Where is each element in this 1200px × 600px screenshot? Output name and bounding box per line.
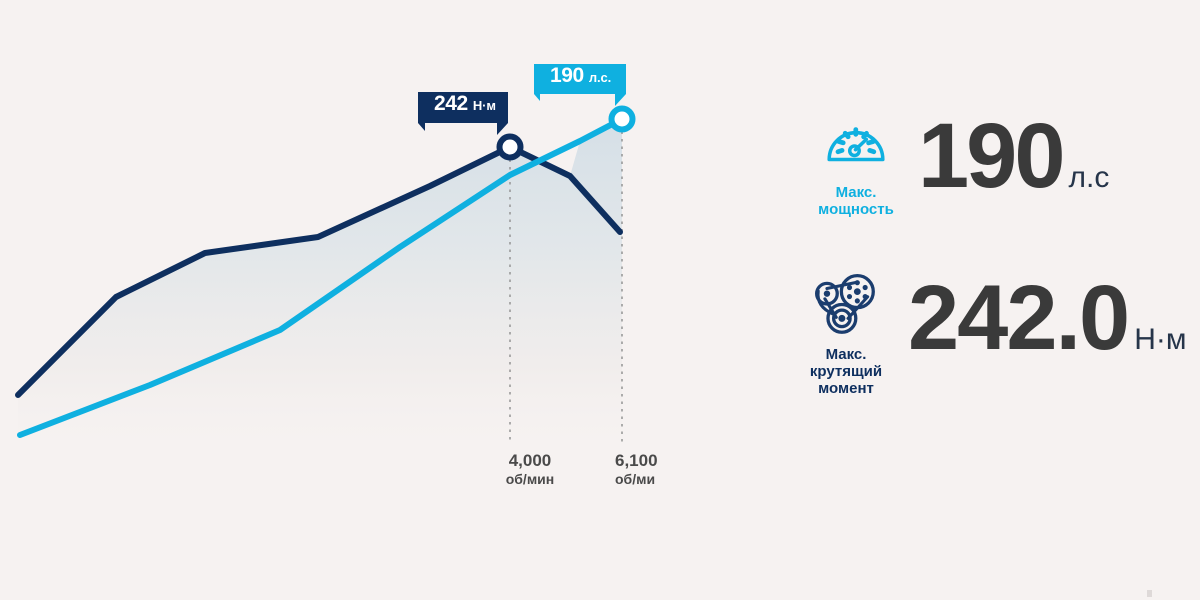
specs-panel: Макс. мощность 190 л.с <box>760 0 1200 600</box>
torque-peak-marker[interactable] <box>500 137 521 158</box>
spec-value-block: 242.0 Н·м <box>908 272 1187 364</box>
power-peak-marker[interactable] <box>612 109 633 130</box>
badge-tail-left <box>418 123 425 131</box>
spec-unit: Н·м <box>1134 323 1186 357</box>
torque-callout-unit: Н·м <box>473 98 496 113</box>
corner-artifact <box>1147 590 1152 597</box>
spec-max-power: Макс. мощность 190 л.с <box>800 110 1109 218</box>
spec-caption: Макс. крутящий момент <box>790 346 902 397</box>
badge-tail-right <box>497 123 508 135</box>
torque-callout-badge[interactable]: 242 Н·м <box>418 92 508 123</box>
badge-tail-left <box>534 94 540 101</box>
spec-unit: л.с <box>1069 161 1110 195</box>
spec-value-block: 190 л.с <box>918 110 1109 202</box>
spec-max-torque: Макс. крутящий момент 242.0 Н·м <box>790 272 1187 397</box>
x-tick-unit: об/мин <box>470 471 590 488</box>
x-tick-4000: 4,000 об/мин <box>470 451 590 488</box>
x-tick-value: 6,100 <box>615 451 700 471</box>
spec-icon-block: Макс. крутящий момент <box>790 272 902 397</box>
power-callout-unit: л.с. <box>589 70 611 85</box>
gauge-icon <box>823 110 889 176</box>
power-callout-badge[interactable]: 190 л.с. <box>534 64 626 94</box>
infographic-root: 242 Н·м 190 л.с. 4,000 об/мин 6,100 об/м… <box>0 0 1200 600</box>
pulley-belt-icon <box>811 272 881 338</box>
x-tick-unit: об/ми <box>615 471 700 488</box>
spec-caption-line-3: момент <box>790 380 902 397</box>
spec-caption: Макс. мощность <box>800 184 912 218</box>
engine-curves-chart: 242 Н·м 190 л.с. 4,000 об/мин 6,100 об/м… <box>0 0 700 600</box>
torque-callout-value: 242 <box>434 92 468 116</box>
power-callout-value: 190 <box>550 64 584 88</box>
badge-tail-right <box>615 94 626 106</box>
x-tick-6100: 6,100 об/ми <box>585 451 700 488</box>
spec-value: 190 <box>918 110 1063 202</box>
spec-caption-line-2: мощность <box>800 201 912 218</box>
x-tick-value: 4,000 <box>470 451 590 471</box>
spec-value: 242.0 <box>908 272 1128 364</box>
spec-caption-line-1: Макс. <box>790 346 902 363</box>
spec-caption-line-2: крутящий <box>790 363 902 380</box>
spec-caption-line-1: Макс. <box>800 184 912 201</box>
spec-icon-block: Макс. мощность <box>800 110 912 218</box>
